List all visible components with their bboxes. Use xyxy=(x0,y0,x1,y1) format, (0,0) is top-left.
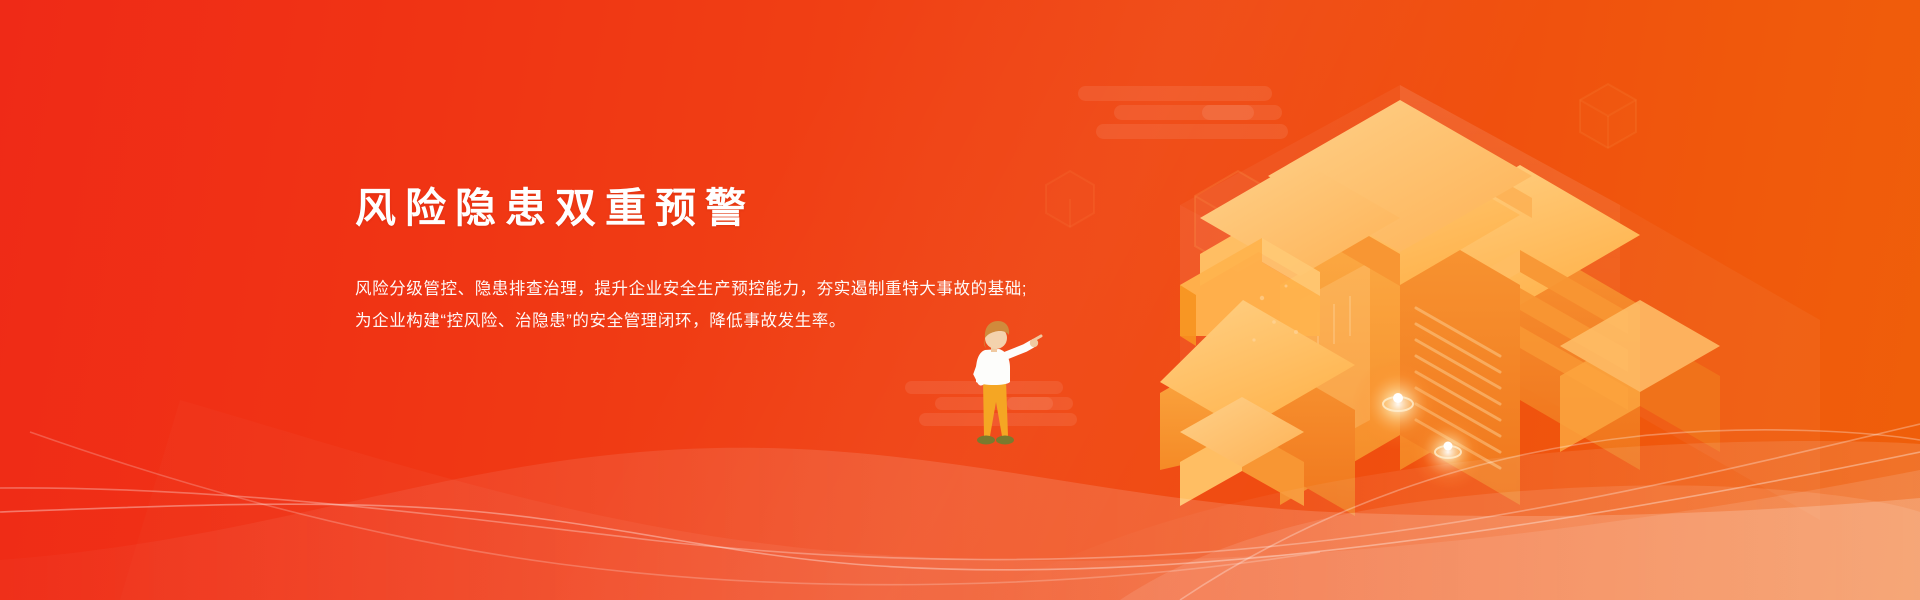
wave-sheet-right xyxy=(980,441,1920,600)
hex-cube-outline-icon-1 xyxy=(1195,171,1281,271)
banner-hero: 风险隐患双重预警 风险分级管控、隐患排查治理，提升企业安全生产预控能力，夯实遏制… xyxy=(0,0,1920,600)
wave-line-3 xyxy=(30,432,1320,585)
wing-block-left xyxy=(1180,238,1320,346)
wave-line-4 xyxy=(1180,430,1920,600)
ground-shadow xyxy=(1120,485,1920,600)
wave-line-2 xyxy=(0,424,1920,560)
glow-dot-2 xyxy=(1408,412,1488,492)
cloud-bars-icon-top xyxy=(1068,86,1288,142)
glow-dot-1 xyxy=(1352,358,1444,450)
cloud-bars-icon-bottom xyxy=(897,381,1077,429)
page-title: 风险隐患双重预警 xyxy=(355,186,1027,231)
plate-far-right xyxy=(1560,300,1720,452)
wave-fill-left xyxy=(0,448,1920,600)
ghost-prism-group xyxy=(1180,85,1820,520)
slab-stack-left xyxy=(1200,160,1400,286)
cube-tilted-small xyxy=(1180,397,1304,506)
server-slats xyxy=(1416,308,1500,468)
tower-right xyxy=(1400,165,1640,470)
glass-panel-left xyxy=(1300,262,1370,458)
wave-line-1 xyxy=(0,452,1920,570)
speckles xyxy=(1252,285,1298,342)
hex-cube-outline-icon-2 xyxy=(1290,154,1346,218)
wave-band-diagonal xyxy=(120,400,1920,600)
hex-cube-outline-icon-3 xyxy=(1580,84,1636,148)
subtitle-line-1: 风险分级管控、隐患排查治理，提升企业安全生产预控能力，夯实遏制重特大事故的基础; xyxy=(355,273,1027,305)
cube-front-large xyxy=(1160,300,1355,516)
hex-cube-outline-icon-4 xyxy=(1046,171,1094,227)
hero-copy: 风险隐患双重预警 风险分级管控、隐患排查治理，提升企业安全生产预控能力，夯实遏制… xyxy=(355,186,1027,337)
subtitle-line-2: 为企业构建“控风险、治隐患”的安全管理闭环，降低事故发生率。 xyxy=(355,305,1027,337)
tower-center xyxy=(1268,100,1532,505)
